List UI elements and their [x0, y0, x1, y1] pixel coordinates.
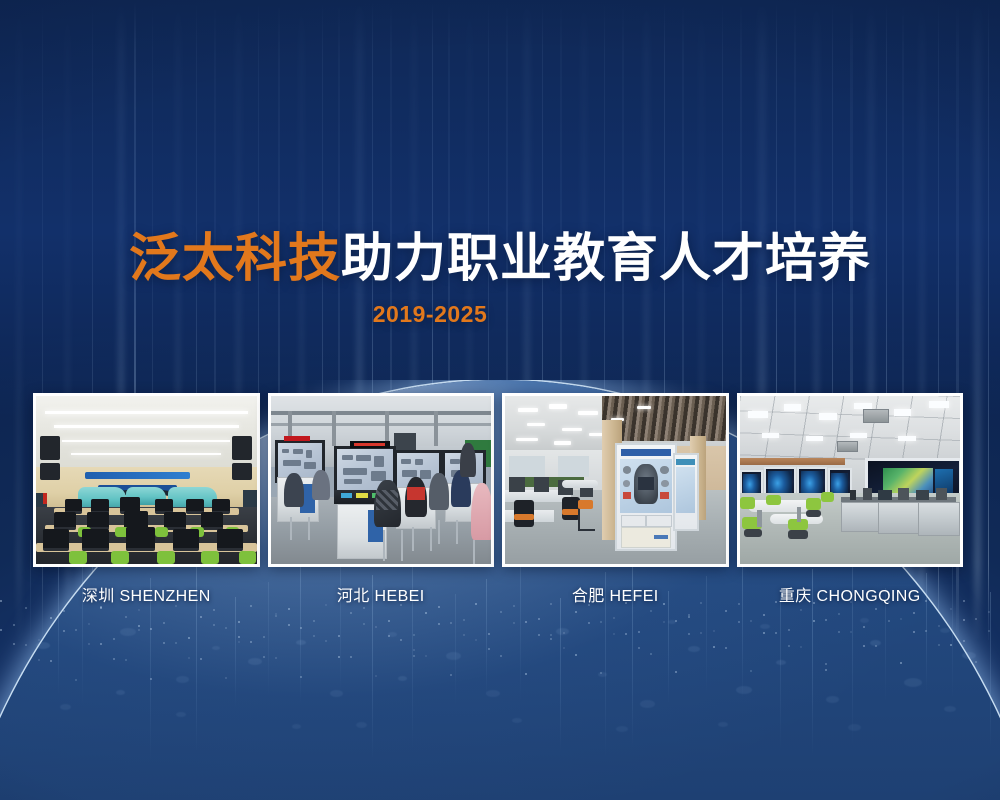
- title-block: 泛太科技助力职业教育人才培养 2019-2025: [0, 232, 1000, 328]
- photo-image-chongqing: [740, 396, 961, 564]
- star-specks: [0, 600, 1000, 720]
- gallery-photo-chongqing[interactable]: [737, 393, 964, 567]
- photo-image-hebei: [271, 396, 492, 564]
- caption-shenzhen: 深圳 SHENZHEN: [33, 582, 260, 608]
- title-tagline: 助力职业教育人才培养: [341, 230, 871, 288]
- photo-image-hefei: [505, 396, 726, 564]
- photo-image-shenzhen: [36, 396, 257, 564]
- photo-captions: 深圳 SHENZHEN 河北 HEBEI 合肥 HEFEI 重庆 CHONGQI…: [33, 582, 963, 608]
- caption-hefei: 合肥 HEFEI: [502, 582, 729, 608]
- gallery-photo-hefei[interactable]: [502, 393, 729, 567]
- year-range-label: 2019-2025: [0, 301, 860, 328]
- caption-hebei: 河北 HEBEI: [268, 582, 495, 608]
- gallery-photo-shenzhen[interactable]: [33, 393, 260, 567]
- page-title: 泛太科技助力职业教育人才培养: [0, 232, 1000, 287]
- caption-chongqing: 重庆 CHONGQING: [737, 582, 964, 608]
- photo-strip: [33, 393, 963, 567]
- gallery-photo-hebei[interactable]: [268, 393, 495, 567]
- brand-name: 泛太科技: [129, 230, 341, 288]
- promo-banner: 泛太科技助力职业教育人才培养 2019-2025: [0, 0, 1000, 800]
